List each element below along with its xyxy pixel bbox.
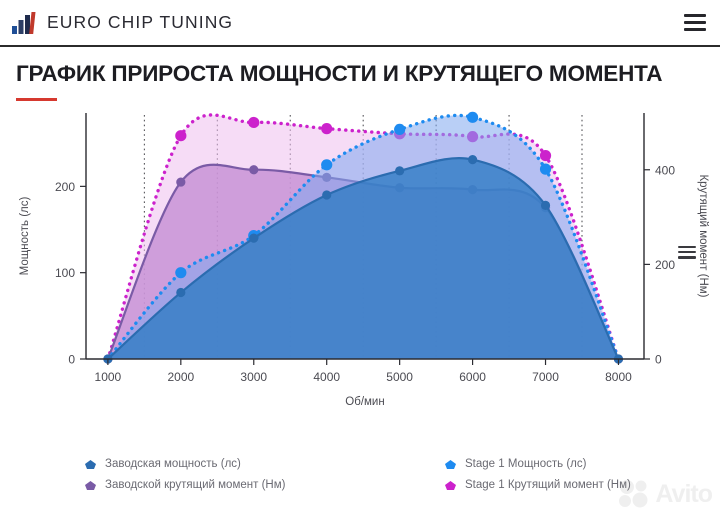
y2-tick-label: 200 bbox=[655, 258, 675, 272]
legend-label: Stage 1 Мощность (лс) bbox=[465, 458, 586, 470]
data-point[interactable] bbox=[249, 233, 258, 242]
x-axis-label: Об/мин bbox=[345, 396, 384, 408]
chart-menu-bar-2 bbox=[678, 251, 696, 253]
x-tick-label: 7000 bbox=[532, 370, 559, 384]
data-point[interactable] bbox=[541, 201, 550, 210]
chart-menu-bar-3 bbox=[678, 256, 696, 258]
y-axis-label: Мощность (лс) bbox=[19, 196, 31, 275]
x-tick-label: 4000 bbox=[313, 370, 340, 384]
title-block: ГРАФИК ПРИРОСТА МОЩНОСТИ И КРУТЯЩЕГО МОМ… bbox=[0, 47, 720, 101]
data-point[interactable] bbox=[321, 159, 332, 170]
legend-label: Stage 1 Крутящий момент (Нм) bbox=[465, 479, 631, 491]
menu-bar-1 bbox=[684, 14, 706, 17]
chart-hamburger-menu-icon[interactable] bbox=[678, 246, 696, 259]
y-tick-label: 0 bbox=[68, 352, 75, 366]
title-accent-rule bbox=[16, 98, 57, 101]
x-tick-label: 6000 bbox=[459, 370, 486, 384]
legend-marker-icon bbox=[84, 459, 97, 470]
top-bar: EURO CHIP TUNING bbox=[0, 0, 720, 47]
data-point[interactable] bbox=[322, 190, 331, 199]
legend-label: Заводской крутящий момент (Нм) bbox=[105, 479, 285, 491]
brand-name: EURO CHIP TUNING bbox=[47, 12, 233, 33]
data-point[interactable] bbox=[395, 166, 404, 175]
data-point[interactable] bbox=[467, 111, 478, 122]
y2-tick-label: 0 bbox=[655, 352, 662, 366]
data-point[interactable] bbox=[175, 130, 186, 141]
chart-menu-bar-1 bbox=[678, 246, 696, 248]
legend-label: Заводская мощность (лс) bbox=[105, 458, 241, 470]
x-tick-label: 5000 bbox=[386, 370, 413, 384]
legend-item-stock-power[interactable]: Заводская мощность (лс) bbox=[84, 458, 444, 470]
y2-axis-label: Крутящий момент (Нм) bbox=[697, 174, 709, 297]
legend-marker-icon bbox=[444, 480, 457, 491]
power-torque-chart: 10002000300040005000600070008000Об/мин01… bbox=[0, 105, 720, 505]
legend-item-stage1-power[interactable]: Stage 1 Мощность (лс) bbox=[444, 458, 720, 470]
brand-logo[interactable]: EURO CHIP TUNING bbox=[12, 12, 233, 34]
data-point[interactable] bbox=[176, 177, 185, 186]
legend-marker-icon bbox=[444, 459, 457, 470]
data-point[interactable] bbox=[394, 124, 405, 135]
hamburger-menu-icon[interactable] bbox=[684, 14, 706, 31]
chart-legend: Заводская мощность (лс) Stage 1 Мощность… bbox=[0, 458, 720, 491]
data-point[interactable] bbox=[321, 123, 332, 134]
data-point[interactable] bbox=[248, 117, 259, 128]
y2-tick-label: 400 bbox=[655, 163, 675, 177]
legend-item-stock-torque[interactable]: Заводской крутящий момент (Нм) bbox=[84, 479, 444, 491]
legend-item-stage1-torque[interactable]: Stage 1 Крутящий момент (Нм) bbox=[444, 479, 720, 491]
data-point[interactable] bbox=[468, 155, 477, 164]
data-point[interactable] bbox=[540, 150, 551, 161]
data-point[interactable] bbox=[249, 165, 258, 174]
data-point[interactable] bbox=[176, 288, 185, 297]
x-tick-label: 8000 bbox=[605, 370, 632, 384]
data-point[interactable] bbox=[175, 267, 186, 278]
data-point[interactable] bbox=[540, 163, 551, 174]
menu-bar-2 bbox=[684, 21, 706, 24]
bar-chart-logo-icon bbox=[12, 12, 38, 34]
y-tick-label: 200 bbox=[55, 180, 75, 194]
chart-canvas: 10002000300040005000600070008000Об/мин01… bbox=[0, 105, 720, 505]
x-tick-label: 3000 bbox=[240, 370, 267, 384]
y-tick-label: 100 bbox=[55, 266, 75, 280]
menu-bar-3 bbox=[684, 28, 706, 31]
page-title: ГРАФИК ПРИРОСТА МОЩНОСТИ И КРУТЯЩЕГО МОМ… bbox=[16, 62, 704, 87]
x-tick-label: 2000 bbox=[167, 370, 194, 384]
legend-marker-icon bbox=[84, 480, 97, 491]
x-tick-label: 1000 bbox=[95, 370, 122, 384]
